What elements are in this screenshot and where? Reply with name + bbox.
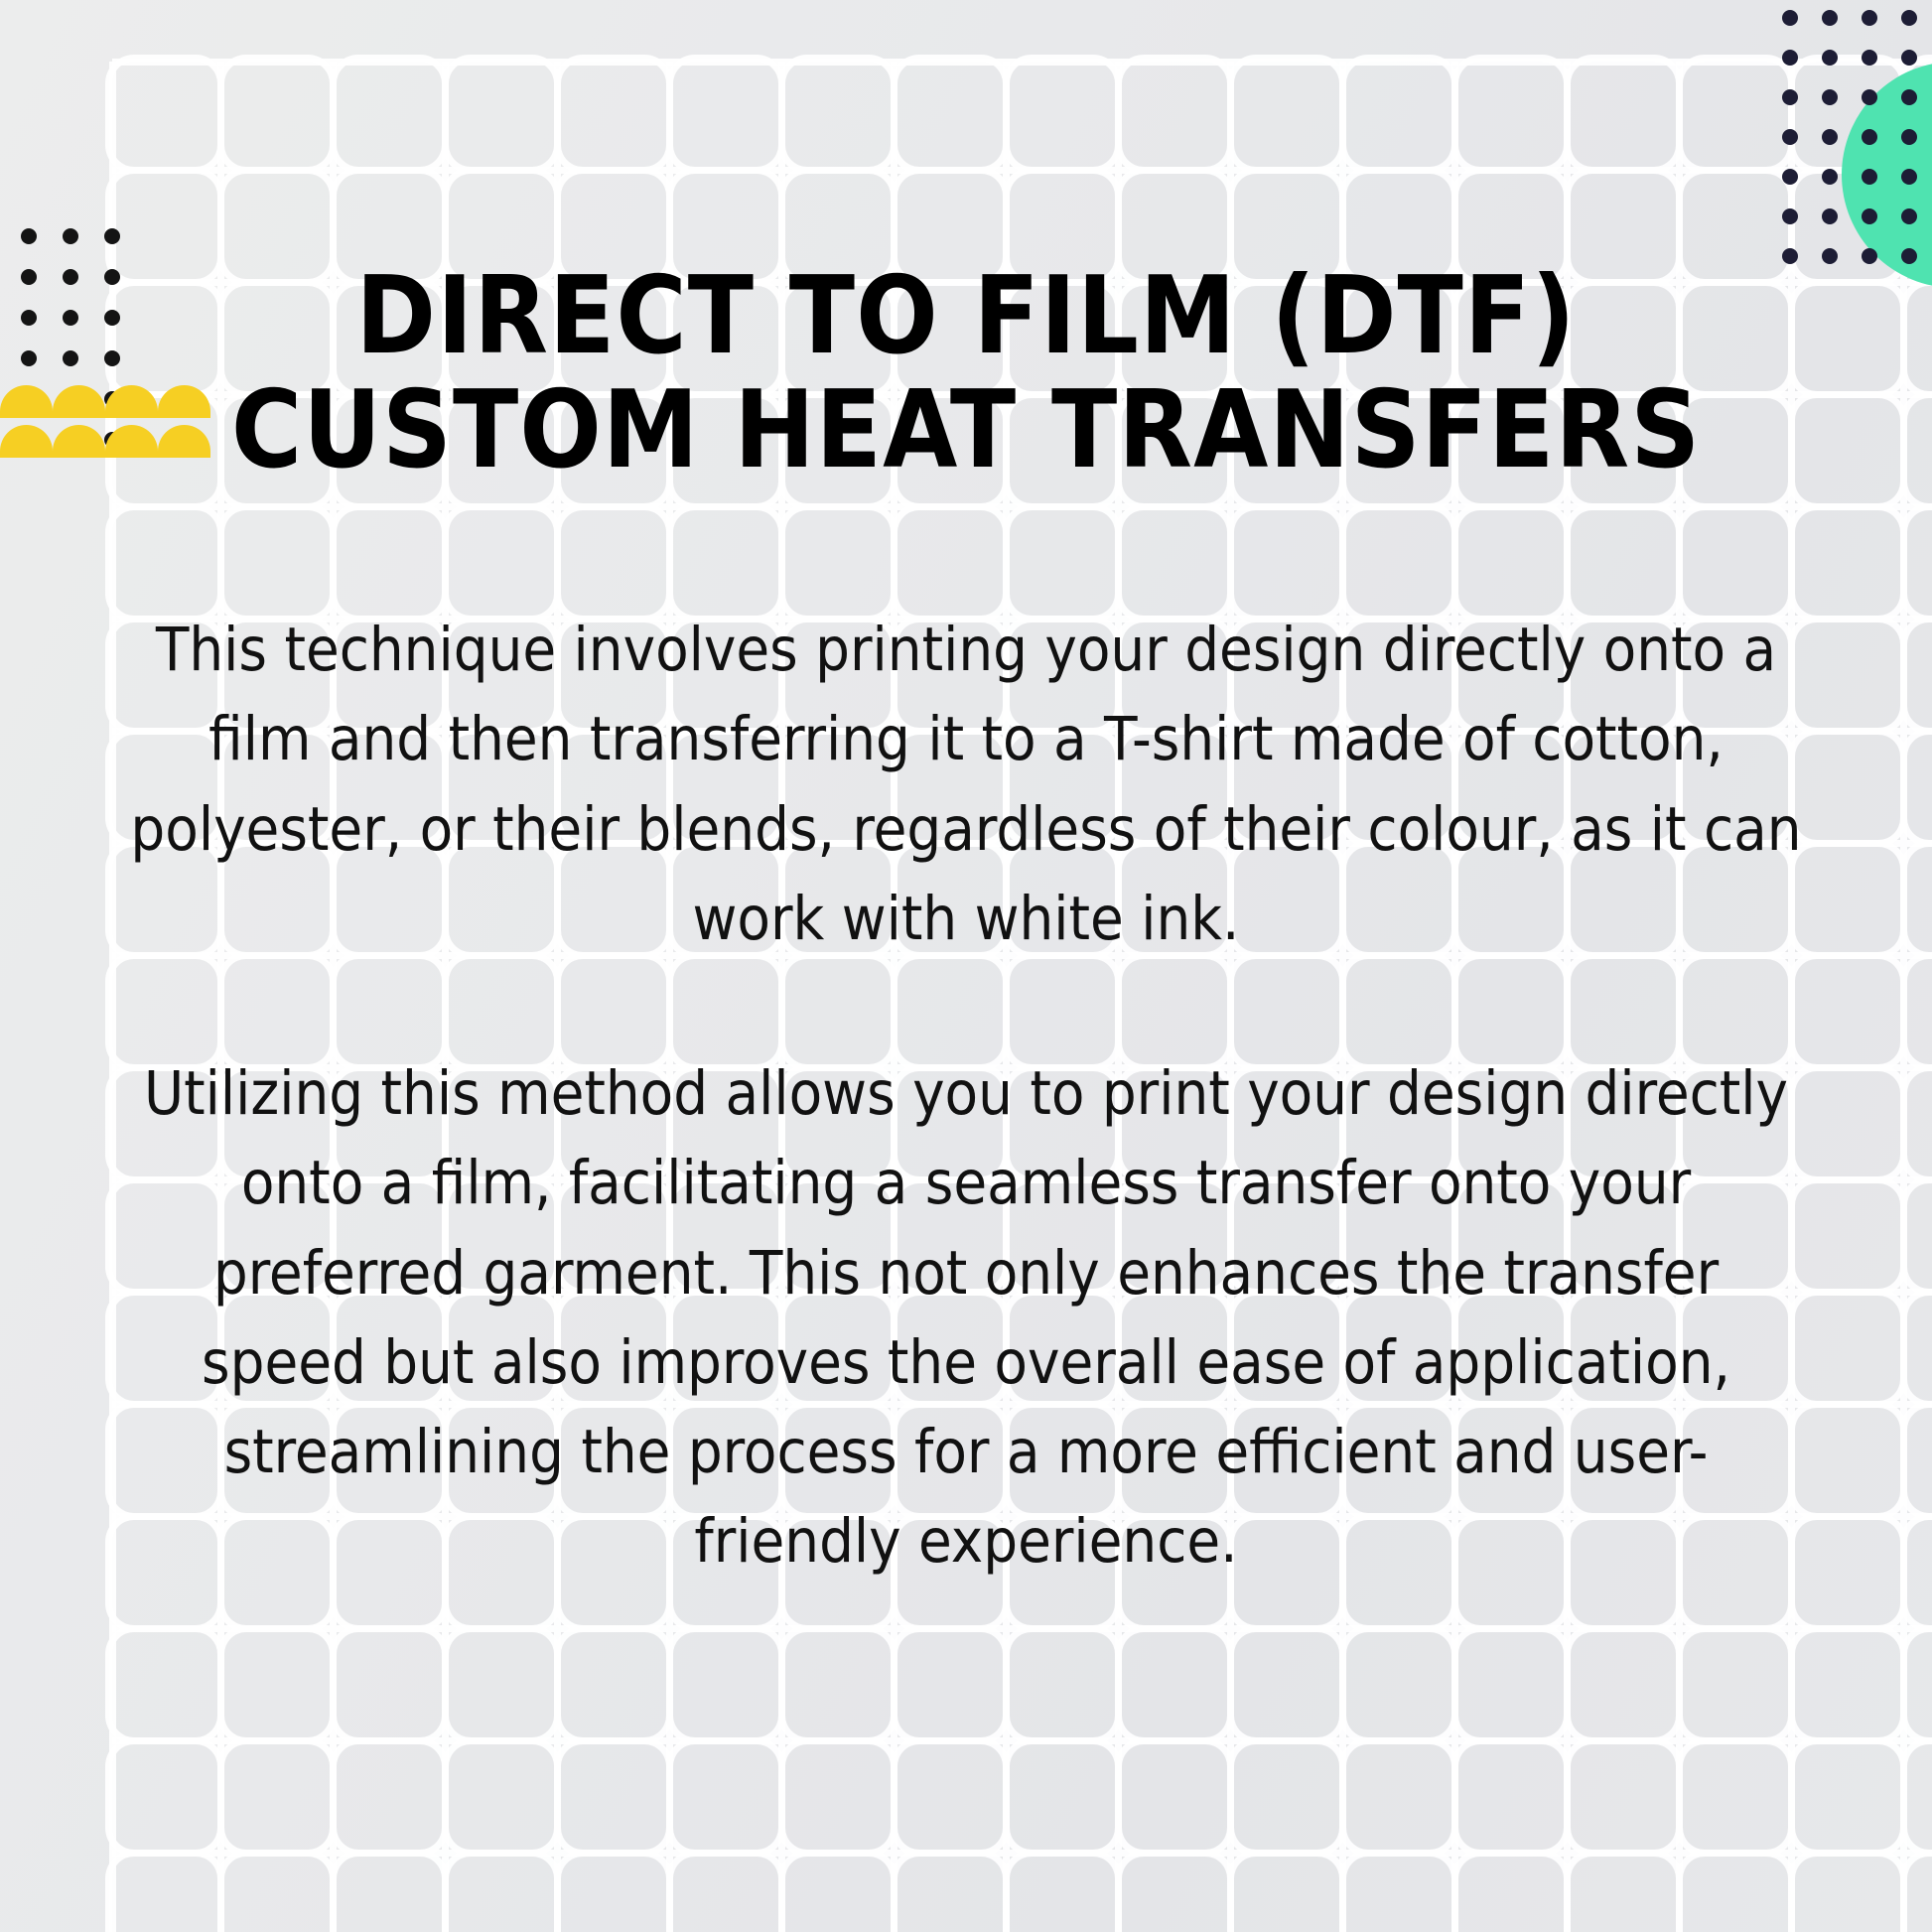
poster-content: DIRECT TO FILM (DTF) CUSTOM HEAT TRANSFE… xyxy=(0,0,1932,1932)
body-copy: This technique involves printing your de… xyxy=(127,606,1805,1587)
page-title-line-1: DIRECT TO FILM (DTF) xyxy=(172,260,1760,373)
page-title-line-2: CUSTOM HEAT TRANSFERS xyxy=(172,374,1760,487)
page-title: DIRECT TO FILM (DTF) CUSTOM HEAT TRANSFE… xyxy=(172,260,1760,487)
poster-canvas: DIRECT TO FILM (DTF) CUSTOM HEAT TRANSFE… xyxy=(0,0,1932,1932)
body-paragraph-1: This technique involves printing your de… xyxy=(127,606,1805,964)
body-paragraph-2: Utilizing this method allows you to prin… xyxy=(127,1049,1805,1587)
